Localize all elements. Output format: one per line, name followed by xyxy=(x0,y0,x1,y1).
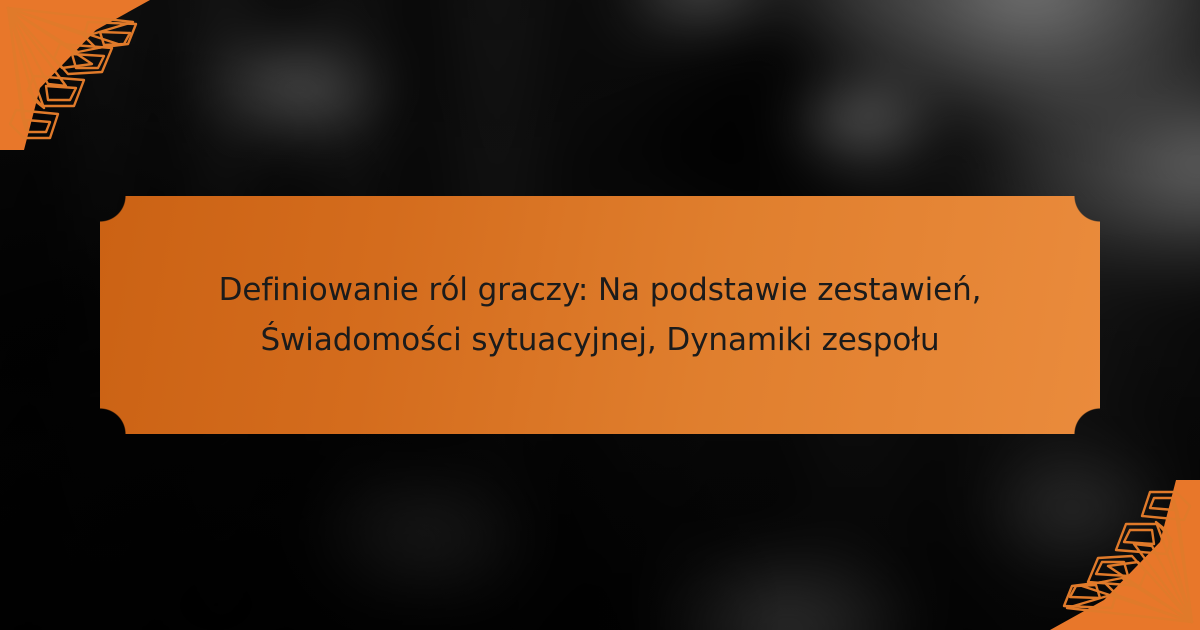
headline-banner: Definiowanie ról graczy: Na podstawie ze… xyxy=(100,196,1100,434)
headline-text: Definiowanie ról graczy: Na podstawie ze… xyxy=(104,265,1096,365)
social-card: Definiowanie ról graczy: Na podstawie ze… xyxy=(0,0,1200,630)
